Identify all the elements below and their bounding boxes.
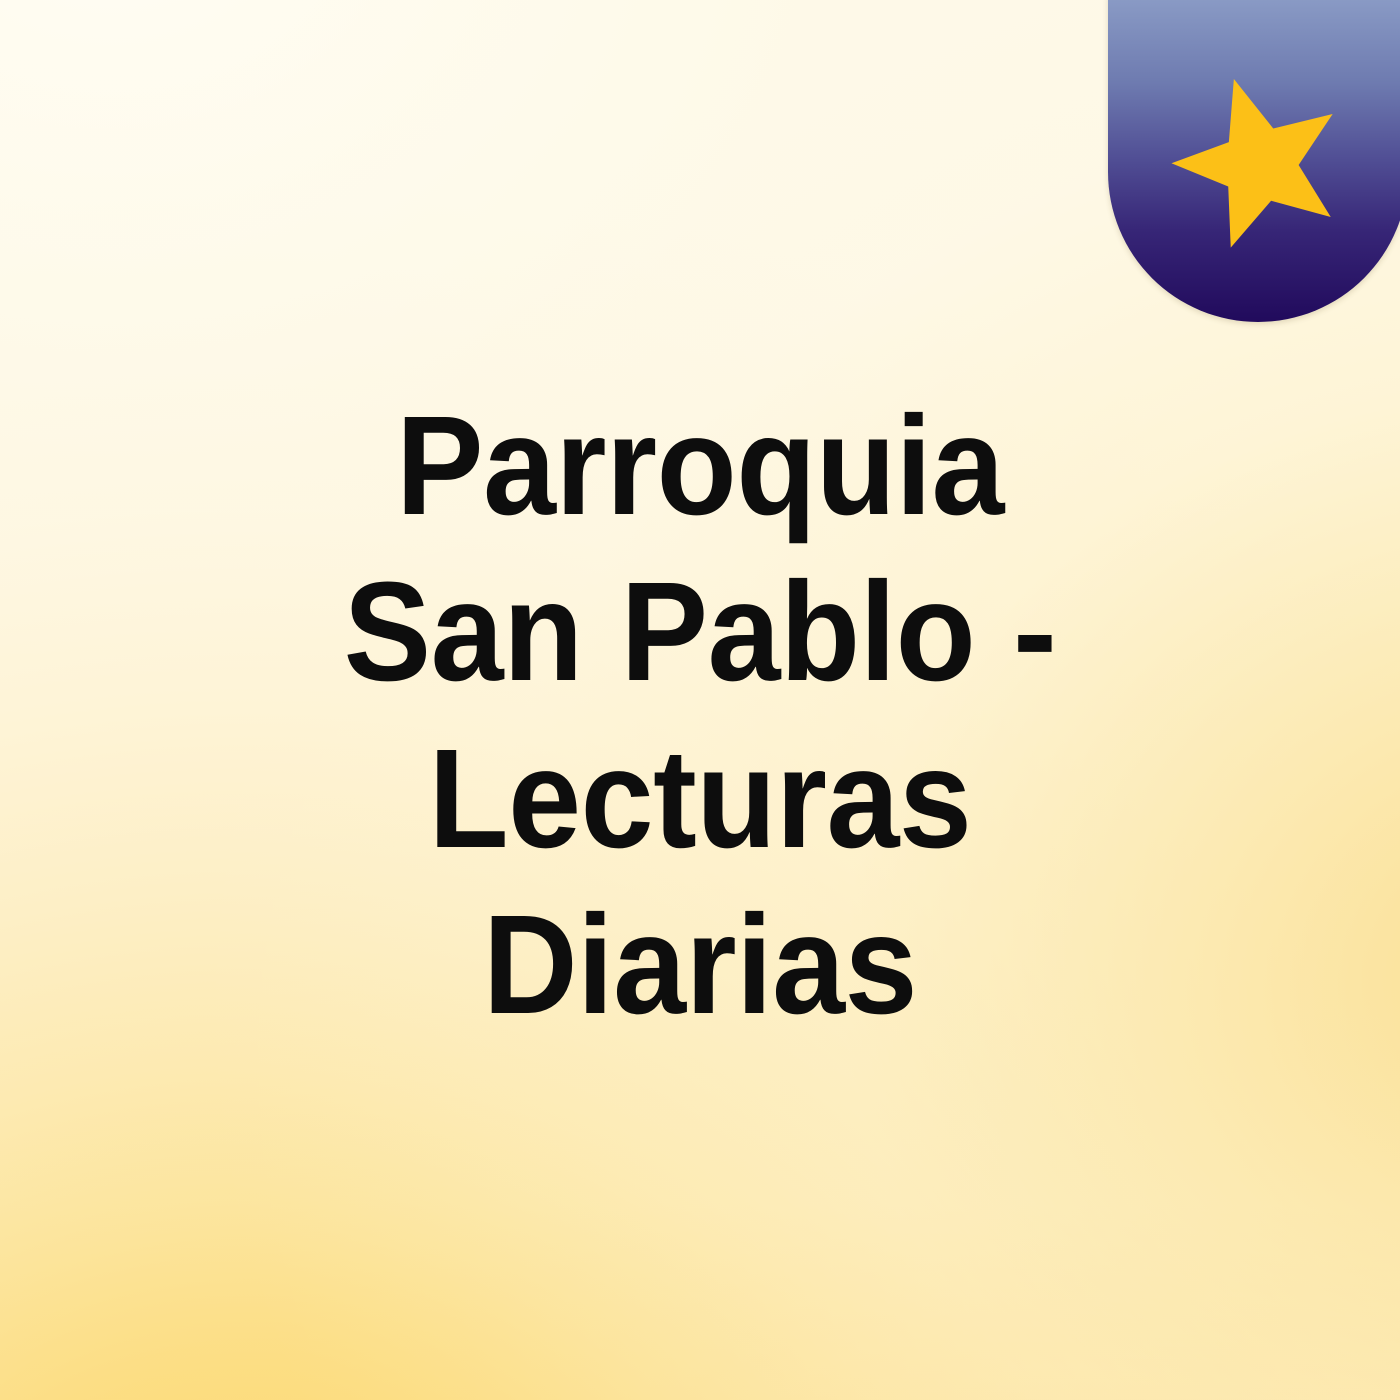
title-block: Parroquia San Pablo - Lecturas Diarias (0, 382, 1400, 1048)
cover-artwork: Parroquia San Pablo - Lecturas Diarias (0, 0, 1400, 1400)
page-title: Parroquia San Pablo - Lecturas Diarias (263, 382, 1137, 1048)
